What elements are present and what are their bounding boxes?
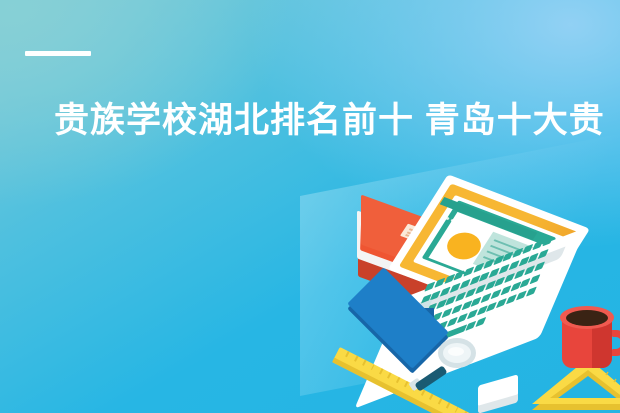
accent-rule <box>25 51 91 56</box>
article-cover-banner: 贵族学校湖北排名前十 青岛十大贵 <box>0 0 620 413</box>
coffee-liquid <box>566 310 608 326</box>
study-desk-illustration <box>330 188 620 413</box>
eraser <box>478 374 518 407</box>
magnifying-glass-icon <box>438 338 476 368</box>
page-title: 贵族学校湖北排名前十 青岛十大贵 <box>54 99 614 143</box>
